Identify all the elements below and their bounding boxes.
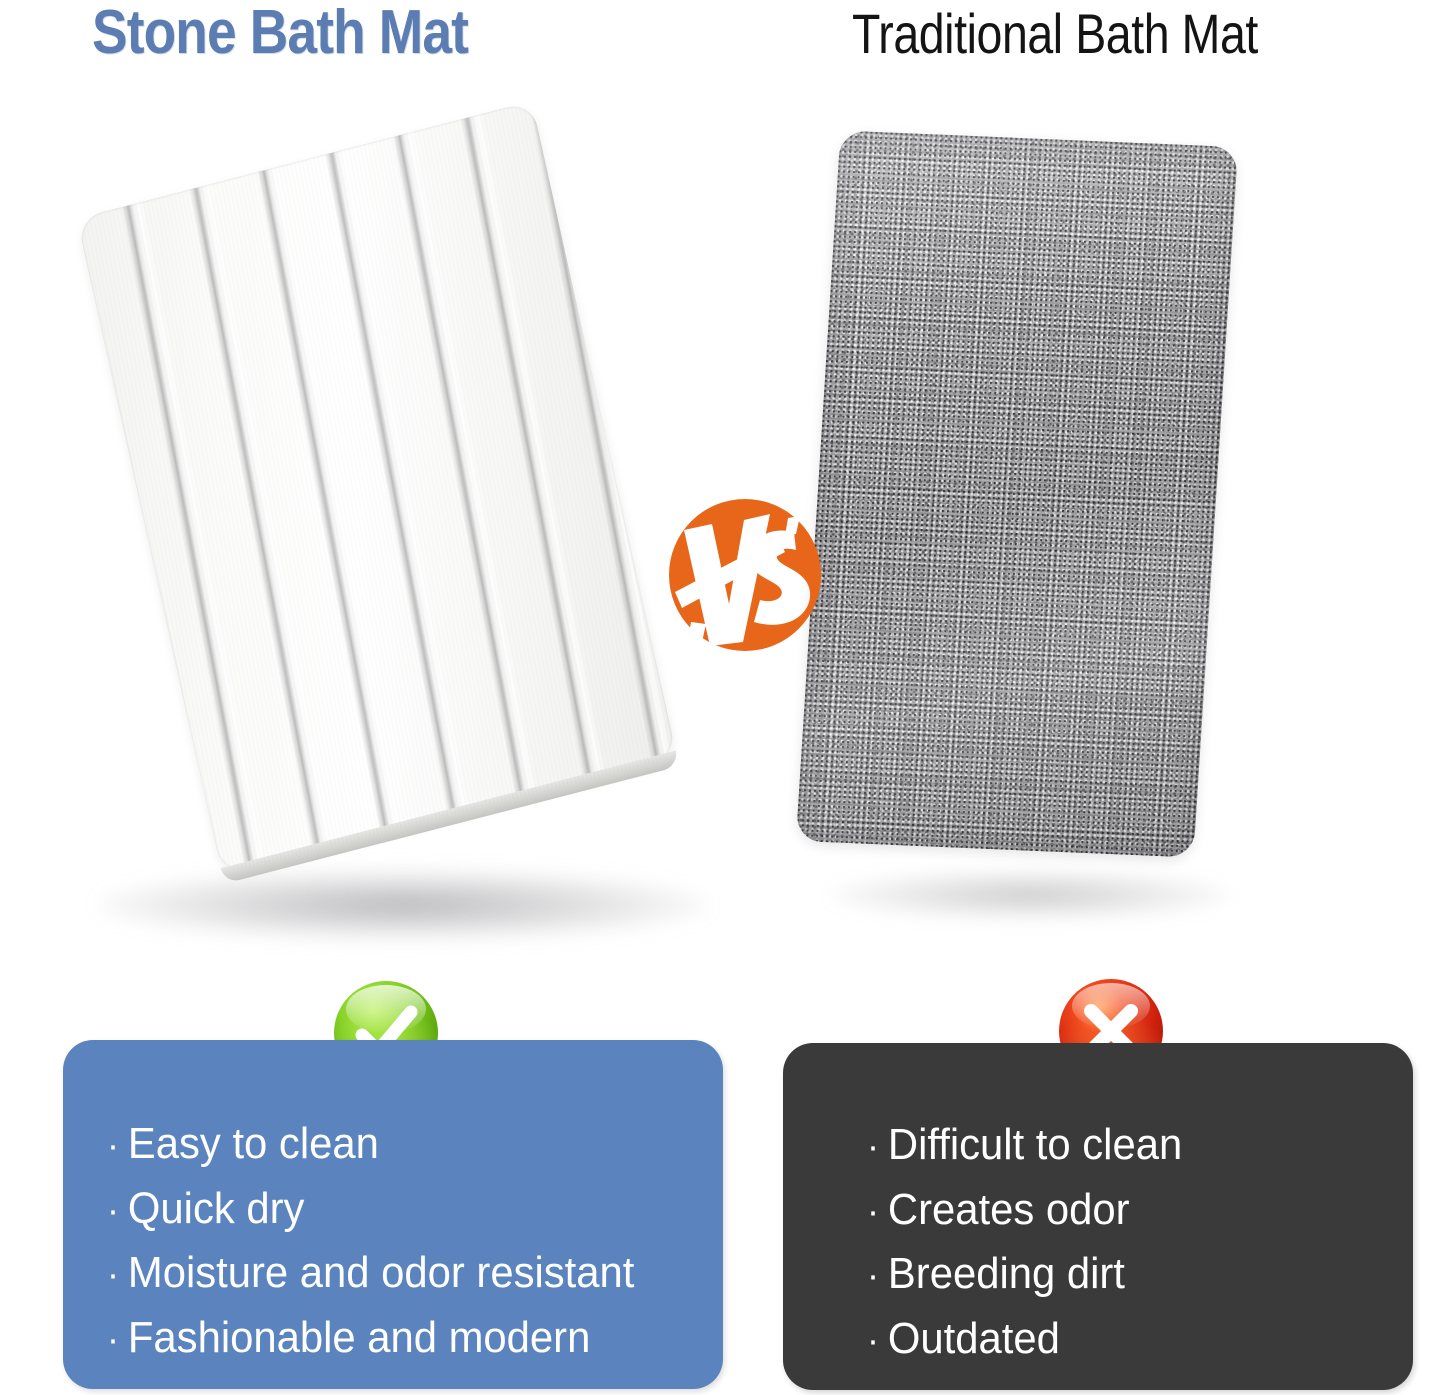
- bullet-marker: ·: [107, 1248, 128, 1304]
- list-item-label: Outdated: [888, 1314, 1060, 1363]
- traditional-mat-rug: [796, 130, 1238, 857]
- traditional-mat-drop-shadow: [830, 870, 1230, 920]
- pros-list: ·Easy to clean ·Quick dry ·Moisture and …: [107, 1112, 709, 1371]
- comparison-infographic: Stone Bath Mat Traditional Bath Mat: [0, 0, 1445, 1395]
- list-item-label: Fashionable and modern: [128, 1313, 590, 1362]
- stone-mat-drop-shadow: [98, 870, 708, 940]
- page-title-traditional-bath-mat: Traditional Bath Mat: [852, 6, 1258, 62]
- list-item-label: Quick dry: [128, 1184, 305, 1233]
- traditional-mat-product-image: [790, 110, 1260, 920]
- stone-mat-texture: [77, 101, 678, 875]
- list-item: ·Moisture and odor resistant: [107, 1241, 679, 1306]
- list-item: ·Outdated: [867, 1307, 1372, 1372]
- list-item: ·Fashionable and modern: [107, 1306, 679, 1371]
- list-item-label: Moisture and odor resistant: [128, 1248, 634, 1297]
- list-item-label: Easy to clean: [128, 1119, 379, 1168]
- list-item-label: Creates odor: [888, 1185, 1130, 1234]
- stone-mat-slab: [77, 101, 678, 875]
- pros-panel: ·Easy to clean ·Quick dry ·Moisture and …: [63, 1040, 723, 1389]
- list-item: ·Creates odor: [867, 1178, 1372, 1243]
- bullet-marker: ·: [107, 1184, 128, 1240]
- page-title-stone-bath-mat: Stone Bath Mat: [92, 2, 468, 64]
- list-item: ·Difficult to clean: [867, 1113, 1372, 1178]
- vs-badge-icon: [666, 496, 824, 654]
- cons-list: ·Difficult to clean ·Creates odor ·Breed…: [867, 1113, 1399, 1372]
- list-item-label: Breeding dirt: [888, 1249, 1125, 1298]
- bullet-marker: ·: [107, 1313, 128, 1369]
- bullet-marker: ·: [867, 1120, 888, 1176]
- bullet-marker: ·: [867, 1249, 888, 1305]
- traditional-mat-texture: [796, 130, 1238, 857]
- bullet-marker: ·: [867, 1314, 888, 1370]
- cons-panel: ·Difficult to clean ·Creates odor ·Breed…: [783, 1043, 1413, 1390]
- list-item: ·Easy to clean: [107, 1112, 679, 1177]
- stone-mat-product-image: [38, 100, 758, 930]
- bullet-marker: ·: [867, 1185, 888, 1241]
- bullet-marker: ·: [107, 1119, 128, 1175]
- list-item: ·Breeding dirt: [867, 1242, 1372, 1307]
- list-item: ·Quick dry: [107, 1177, 679, 1242]
- list-item-label: Difficult to clean: [888, 1120, 1182, 1169]
